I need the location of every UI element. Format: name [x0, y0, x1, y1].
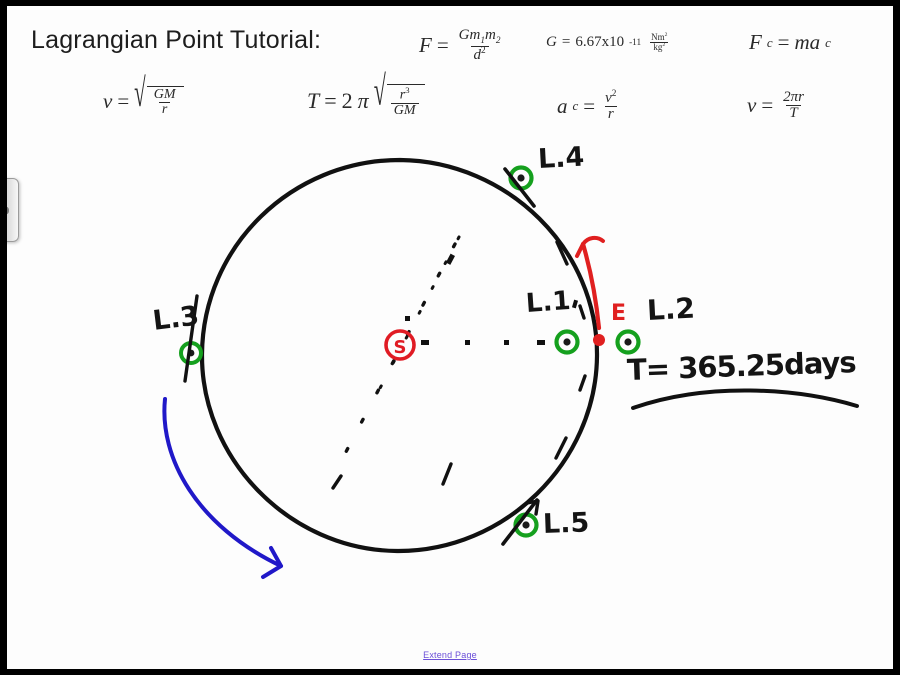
sun-marker[interactable]: S — [386, 331, 414, 359]
lagrange-point-l5-label: L.5 — [542, 507, 589, 540]
earth-marker[interactable] — [593, 334, 605, 346]
panel-handle-grip-icon — [7, 207, 9, 214]
lagrange-point-l4-label: L.4 — [537, 142, 585, 175]
lagrange-point-l2-label: L.2 — [646, 292, 696, 327]
orbital-diagram[interactable]: S — [7, 6, 893, 669]
upper-dashes — [405, 254, 455, 321]
orbit-inner-ticks — [333, 242, 585, 488]
period-underline-arc — [633, 390, 857, 408]
screen: Lagrangian Point Tutorial: F = Gm1m2 d2 — [0, 0, 900, 675]
lagrange-point-l3-label: L.3 — [151, 300, 201, 336]
collapsed-panel-handle[interactable] — [7, 178, 19, 242]
lagrange-point-l1-label: L.1 — [525, 286, 572, 319]
whiteboard-canvas[interactable]: Lagrangian Point Tutorial: F = Gm1m2 d2 — [7, 6, 893, 669]
earth-label: E — [611, 301, 626, 326]
lagrange-point-l1-marker[interactable] — [557, 332, 578, 353]
whiteboard-surface[interactable]: Lagrangian Point Tutorial: F = Gm1m2 d2 — [7, 6, 893, 669]
sun-label: S — [394, 337, 407, 358]
orbit-direction-arrow — [164, 399, 281, 566]
stray-marks — [572, 300, 578, 309]
tilt-dashed-line-upper — [377, 237, 459, 394]
earth-direction-arrowhead — [577, 238, 603, 256]
sun-earth-axis-dots — [421, 340, 545, 345]
extend-page-link[interactable]: Extend Page — [7, 650, 893, 660]
lagrange-point-l2-marker[interactable] — [618, 332, 639, 353]
